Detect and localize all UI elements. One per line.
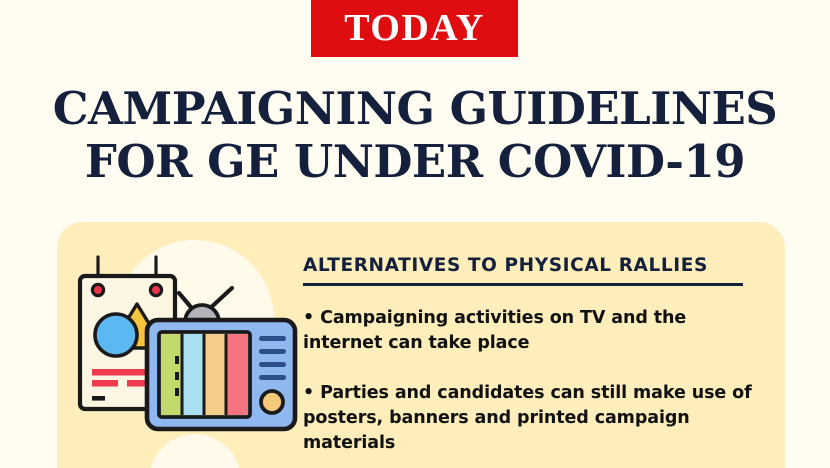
page-title-line-2: FOR GE UNDER COVID-19	[0, 135, 830, 188]
today-logo-text: TODAY	[344, 9, 485, 49]
panel-text-content: ALTERNATIVES TO PHYSICAL RALLIES • Campa…	[303, 256, 755, 456]
content-panel: ALTERNATIVES TO PHYSICAL RALLIES • Campa…	[57, 222, 785, 468]
page-title: CAMPAIGNING GUIDELINES FOR GE UNDER COVI…	[0, 82, 830, 188]
section-title-rule	[303, 283, 743, 286]
screen-color-bars	[161, 334, 248, 415]
television-knob	[261, 391, 283, 413]
today-logo-bar: TODAY	[311, 0, 518, 57]
guidelines-list: • Campaigning activities on TV and the i…	[303, 306, 755, 456]
section-title: ALTERNATIVES TO PHYSICAL RALLIES	[303, 256, 755, 276]
page-title-line-1: CAMPAIGNING GUIDELINES	[0, 82, 830, 135]
list-item: • Parties and candidates can still make …	[303, 381, 755, 456]
television-set	[147, 320, 295, 429]
poster-and-television-illustration	[75, 252, 303, 452]
list-item: • Campaigning activities on TV and the i…	[303, 306, 755, 356]
